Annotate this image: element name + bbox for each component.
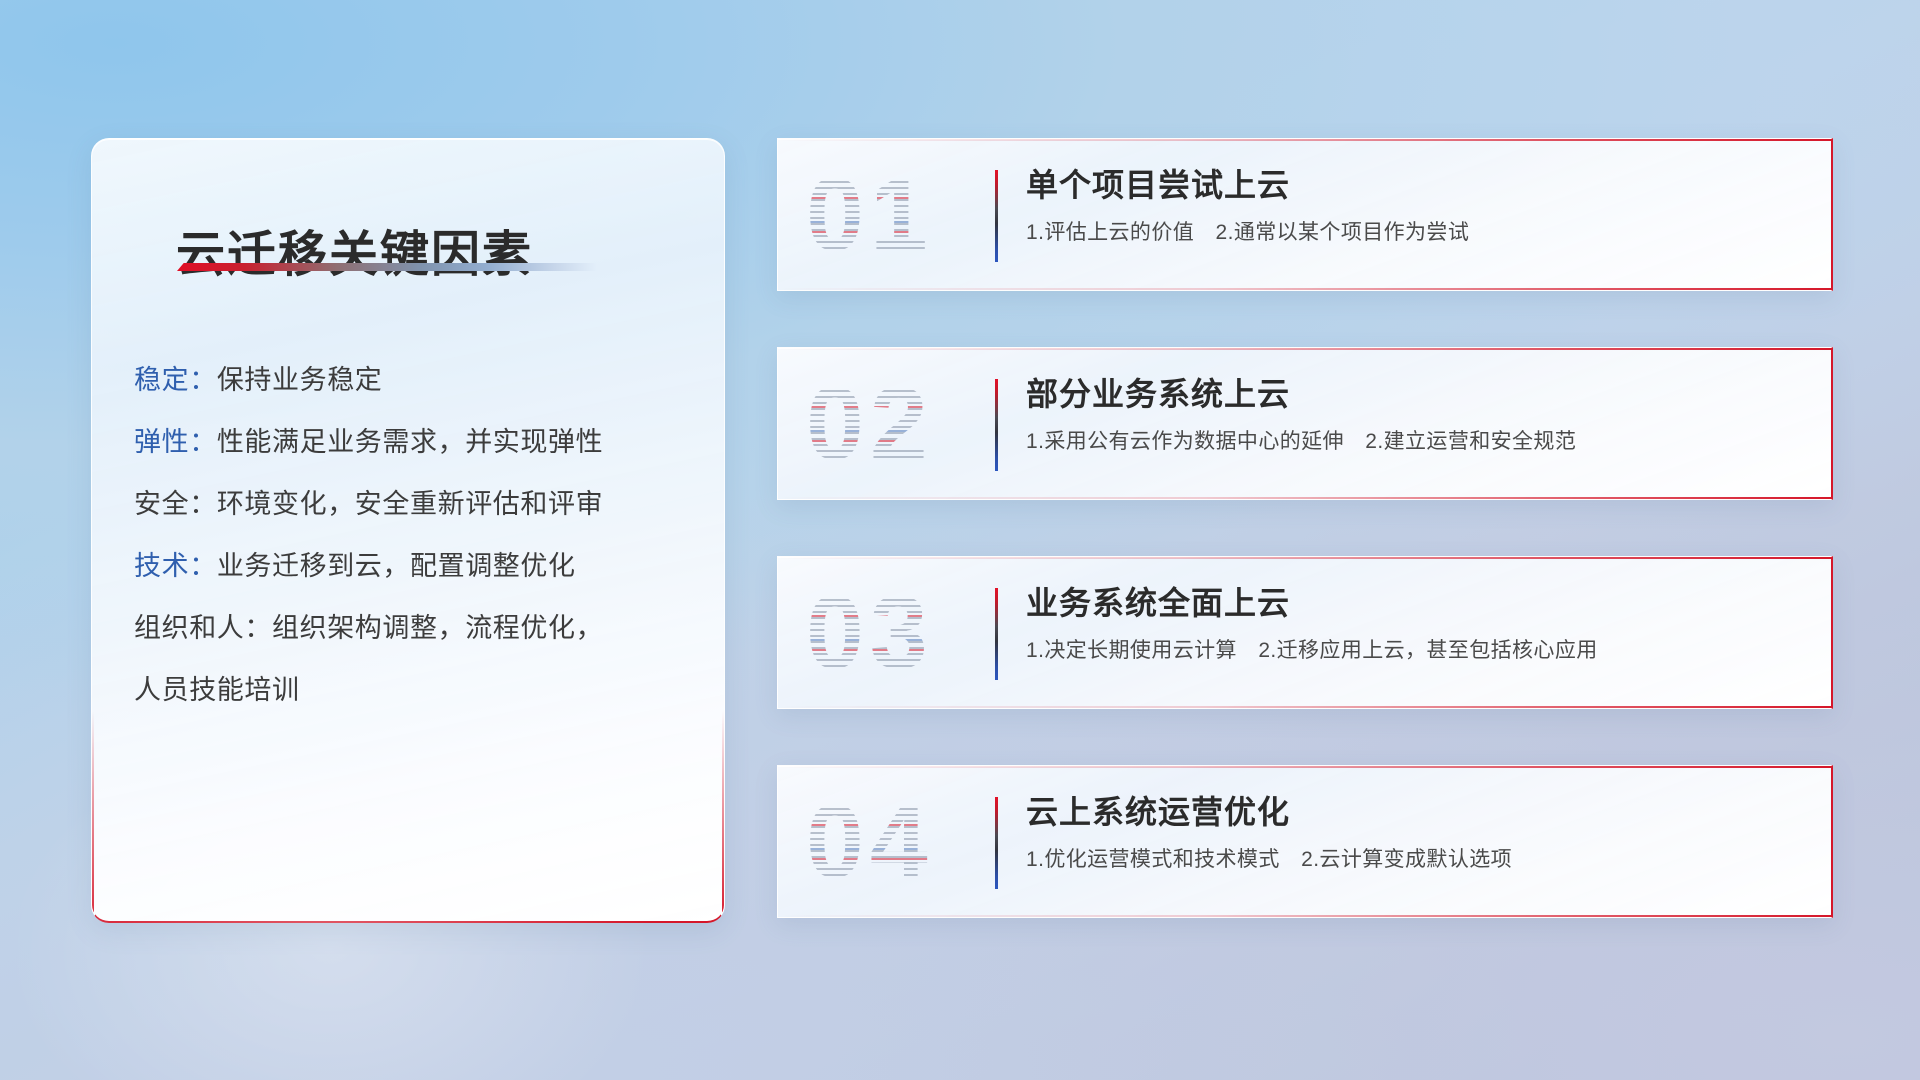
step-divider-bar [995,588,998,680]
page-title: 云迁移关键因素 [176,215,533,286]
step-number-striped: 01 [806,163,934,267]
step-text-block: 云上系统运营优化 1.优化运营模式和技术模式 2.云计算变成默认选项 [1026,792,1809,873]
step-card-01[interactable]: 01 01 单个项目尝试上云 1.评估上云的价值 2.通常以某个项目作为尝试 [777,138,1833,291]
step-card-04[interactable]: 04 04 云上系统运营优化 1.优化运营模式和技术模式 2.云计算变成默认选项 [777,765,1833,918]
list-item-continuation: 人员技能培训 [134,659,696,721]
factor-label: 稳定： [134,365,217,395]
step-subtitle: 1.优化运营模式和技术模式 2.云计算变成默认选项 [1026,846,1809,873]
migration-steps-list: 01 01 单个项目尝试上云 1.评估上云的价值 2.通常以某个项目作为尝试 0… [777,138,1833,918]
list-item: 稳定：保持业务稳定 [134,349,696,411]
factor-description: 人员技能培训 [134,675,300,705]
slide-canvas: 云迁移关键因素 稳定：保持业务稳定 弹性：性能满足业务需求，并实现弹性 安全：环… [0,0,1920,1080]
step-card-03[interactable]: 03 03 业务系统全面上云 1.决定长期使用云计算 2.迁移应用上云，甚至包括… [777,556,1833,709]
step-subtitle: 1.采用公有云作为数据中心的延伸 2.建立运营和安全规范 [1026,428,1809,455]
step-divider-bar [995,797,998,889]
list-item: 安全：环境变化，安全重新评估和评审 [134,473,696,535]
step-title: 业务系统全面上云 [1026,583,1809,623]
key-factors-panel: 云迁移关键因素 稳定：保持业务稳定 弹性：性能满足业务需求，并实现弹性 安全：环… [91,138,725,923]
step-subtitle: 1.决定长期使用云计算 2.迁移应用上云，甚至包括核心应用 [1026,637,1809,664]
step-number-striped: 03 [806,581,934,685]
step-divider-bar [995,379,998,471]
step-subtitle: 1.评估上云的价值 2.通常以某个项目作为尝试 [1026,219,1809,246]
step-title: 部分业务系统上云 [1026,374,1809,414]
step-number-accent: 02 [806,372,934,476]
list-item: 弹性：性能满足业务需求，并实现弹性 [134,411,696,473]
step-number-accent: 01 [806,163,934,267]
step-title: 云上系统运营优化 [1026,792,1809,832]
factor-description: 环境变化，安全重新评估和评审 [217,489,603,519]
step-text-block: 业务系统全面上云 1.决定长期使用云计算 2.迁移应用上云，甚至包括核心应用 [1026,583,1809,664]
step-number-accent: 04 [806,790,934,894]
factor-label: 安全： [134,489,217,519]
list-item: 组织和人：组织架构调整，流程优化， [134,597,696,659]
list-item: 技术：业务迁移到云，配置调整优化 [134,535,696,597]
factor-description: 保持业务稳定 [217,365,383,395]
step-number-striped: 02 [806,372,934,476]
factor-description: 业务迁移到云，配置调整优化 [217,551,576,581]
factor-label: 技术： [134,551,217,581]
factor-label: 组织和人： [134,613,272,643]
factor-description: 组织架构调整，流程优化， [272,613,603,643]
factor-description: 性能满足业务需求，并实现弹性 [217,427,603,457]
step-text-block: 部分业务系统上云 1.采用公有云作为数据中心的延伸 2.建立运营和安全规范 [1026,374,1809,455]
step-number-striped: 04 [806,790,934,894]
step-number-accent: 03 [806,581,934,685]
key-factors-list: 稳定：保持业务稳定 弹性：性能满足业务需求，并实现弹性 安全：环境变化，安全重新… [134,349,696,721]
step-card-02[interactable]: 02 02 部分业务系统上云 1.采用公有云作为数据中心的延伸 2.建立运营和安… [777,347,1833,500]
step-text-block: 单个项目尝试上云 1.评估上云的价值 2.通常以某个项目作为尝试 [1026,165,1809,246]
factor-label: 弹性： [134,427,217,457]
title-underline-rule [177,263,597,271]
step-divider-bar [995,170,998,262]
step-title: 单个项目尝试上云 [1026,165,1809,205]
